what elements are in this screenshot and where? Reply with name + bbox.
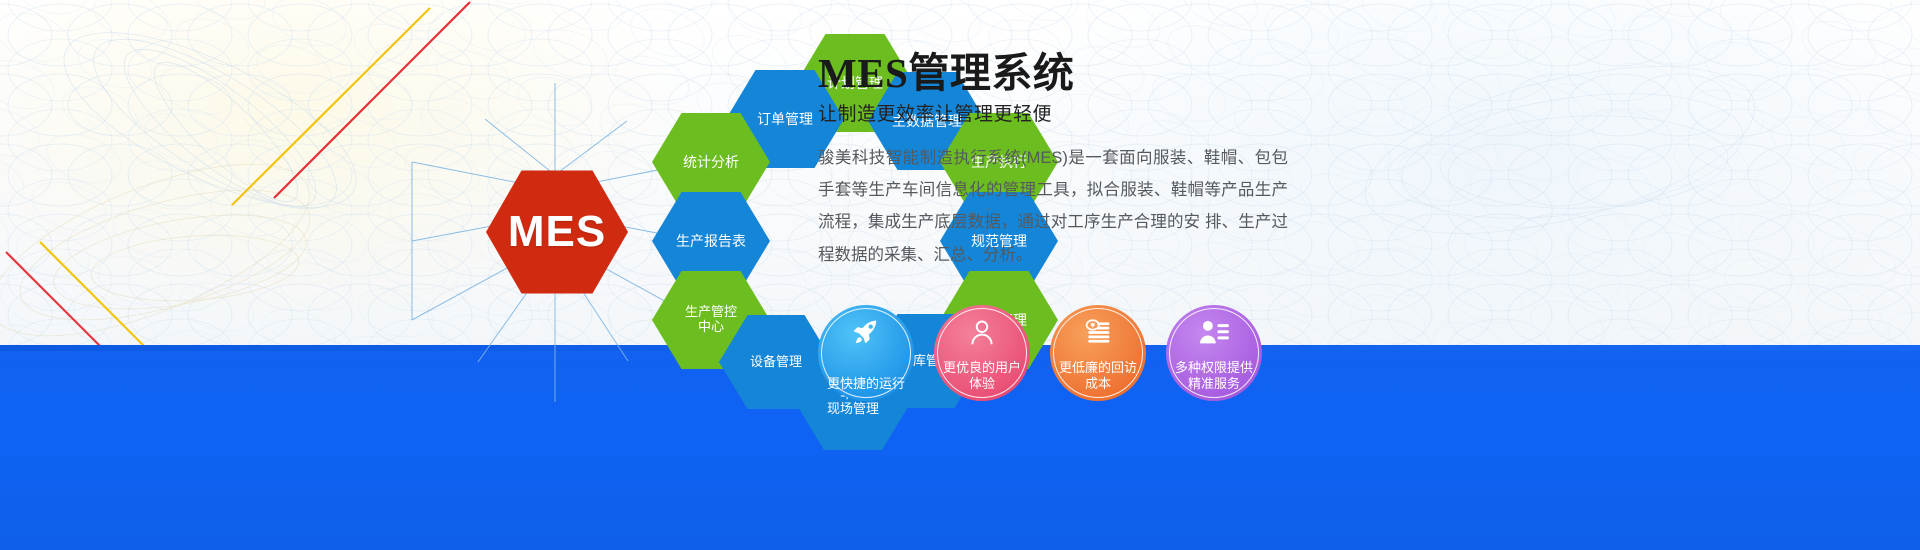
mes-hexagon-diagram: 计划管理订单管理主数据管理统计分析生产执行生产报告表规范管理生产管控中心质量管理… <box>300 10 820 440</box>
feature-badge-lower-cost[interactable]: 更低廉的回访 成本 <box>1050 305 1146 401</box>
money-icon <box>1050 317 1146 347</box>
badge-label: 更低廉的回访 成本 <box>1052 360 1144 393</box>
feature-badge-better-experience[interactable]: 更优良的用户 体验 <box>934 305 1030 401</box>
user-icon <box>934 317 1030 347</box>
badge-label: 更优良的用户 体验 <box>936 360 1028 393</box>
hexagon-node-label: 设备管理 <box>744 355 808 370</box>
hero-banner: 计划管理订单管理主数据管理统计分析生产执行生产报告表规范管理生产管控中心质量管理… <box>0 0 1920 550</box>
hexagon-node-label: 生产管控中心 <box>679 305 743 335</box>
feature-badge-permissions[interactable]: 多种权限提供 精准服务 <box>1166 305 1262 401</box>
people-list-icon <box>1166 317 1262 347</box>
badge-label: 更快捷的运行 <box>820 376 912 392</box>
hexagon-node-label: 生产报告表 <box>670 233 752 249</box>
feature-badge-row: 更快捷的运行 更优良的用户 体验 <box>818 305 1288 405</box>
page-subtitle: 让制造更效率让管理更轻便 <box>818 99 1288 126</box>
rocket-icon <box>818 317 914 347</box>
badge-label: 多种权限提供 精准服务 <box>1168 360 1260 393</box>
hero-text-block: MES管理系统 让制造更效率让管理更轻便 骏美科技智能制造执行系统(MES)是一… <box>818 52 1288 271</box>
hexagon-node-label: 订单管理 <box>751 111 819 127</box>
hexagon-core-label: MES <box>502 207 612 258</box>
hexagon-node-label: 统计分析 <box>677 154 745 170</box>
page-title: MES管理系统 <box>818 52 1288 95</box>
feature-badge-faster-operation[interactable]: 更快捷的运行 <box>818 305 914 401</box>
page-description: 骏美科技智能制造执行系统(MES)是一套面向服装、鞋帽、包包手套等生产车间信息化… <box>818 142 1288 271</box>
